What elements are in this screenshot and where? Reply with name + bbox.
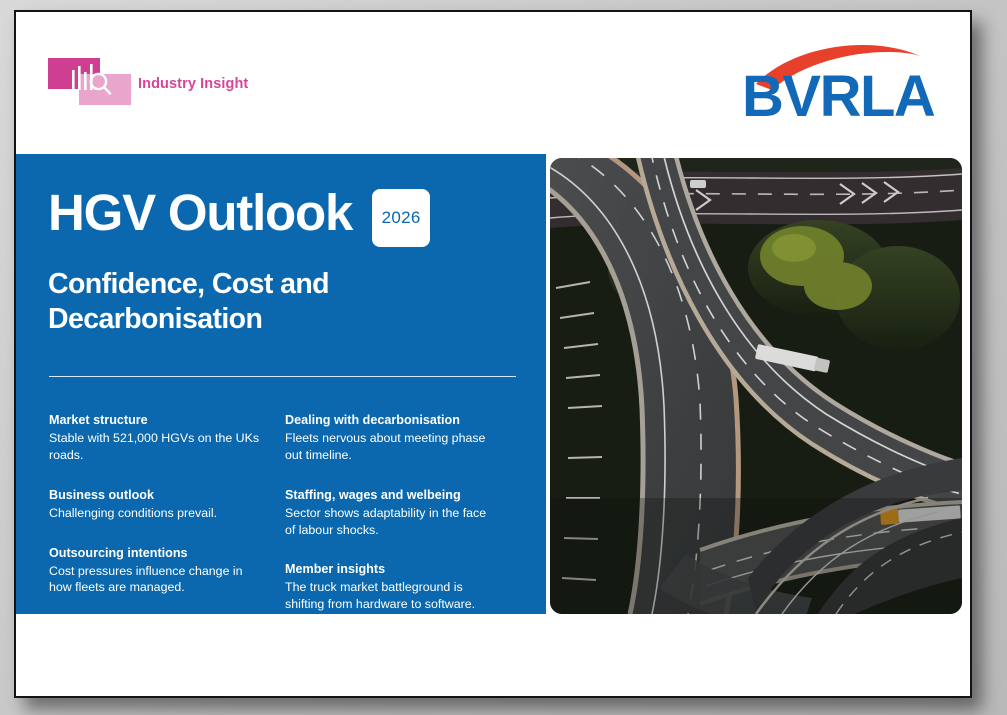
document-page: Industry Insight BVRLA HGV Outlook 2026 … bbox=[14, 10, 972, 698]
title-block: HGV Outlook 2026 Confidence, Cost and De… bbox=[48, 186, 518, 338]
bvrla-logo: BVRLA bbox=[738, 38, 938, 124]
highlight-heading: Market structure bbox=[49, 412, 261, 429]
highlight-body: Cost pressures influence change in how f… bbox=[49, 563, 261, 597]
highlight-heading: Outsourcing intentions bbox=[49, 545, 261, 562]
highlight-item: Outsourcing intentions Cost pressures in… bbox=[49, 545, 261, 597]
highlight-item: Business outlook Challenging conditions … bbox=[49, 487, 261, 522]
page-title: HGV Outlook bbox=[48, 186, 352, 240]
highlight-heading: Dealing with decarbonisation bbox=[285, 412, 497, 429]
highlights-left-column: Market structure Stable with 521,000 HGV… bbox=[49, 412, 261, 613]
highlight-body: The truck market battleground is shiftin… bbox=[285, 579, 497, 613]
highlight-body: Fleets nervous about meeting phase out t… bbox=[285, 430, 497, 464]
cover-photo bbox=[550, 158, 962, 614]
highlight-heading: Business outlook bbox=[49, 487, 261, 504]
bar-chart-magnifier-icon bbox=[48, 54, 138, 112]
highlight-item: Member insights The truck market battleg… bbox=[285, 561, 497, 613]
highlight-body: Challenging conditions prevail. bbox=[49, 505, 261, 522]
highlights-container: Market structure Stable with 521,000 HGV… bbox=[49, 412, 529, 613]
motorway-interchange-illustration bbox=[550, 158, 962, 614]
highlight-heading: Member insights bbox=[285, 561, 497, 578]
highlight-item: Market structure Stable with 521,000 HGV… bbox=[49, 412, 261, 464]
bvrla-wordmark: BVRLA bbox=[742, 64, 935, 124]
highlights-right-column: Dealing with decarbonisation Fleets nerv… bbox=[285, 412, 497, 613]
highlight-item: Staffing, wages and welbeing Sector show… bbox=[285, 487, 497, 539]
year-badge: 2026 bbox=[372, 189, 430, 247]
highlight-body: Sector shows adaptability in the face of… bbox=[285, 505, 497, 539]
cover-blue-panel: HGV Outlook 2026 Confidence, Cost and De… bbox=[16, 154, 546, 614]
highlight-body: Stable with 521,000 HGVs on the UKs road… bbox=[49, 430, 261, 464]
industry-insight-label: Industry Insight bbox=[138, 76, 248, 92]
page-header: Industry Insight BVRLA bbox=[16, 12, 970, 152]
highlight-item: Dealing with decarbonisation Fleets nerv… bbox=[285, 412, 497, 464]
industry-insight-logo: Industry Insight bbox=[48, 54, 268, 116]
highlight-heading: Staffing, wages and welbeing bbox=[285, 487, 497, 504]
page-subtitle: Confidence, Cost and Decarbonisation bbox=[48, 267, 518, 338]
horizontal-divider bbox=[49, 376, 516, 377]
